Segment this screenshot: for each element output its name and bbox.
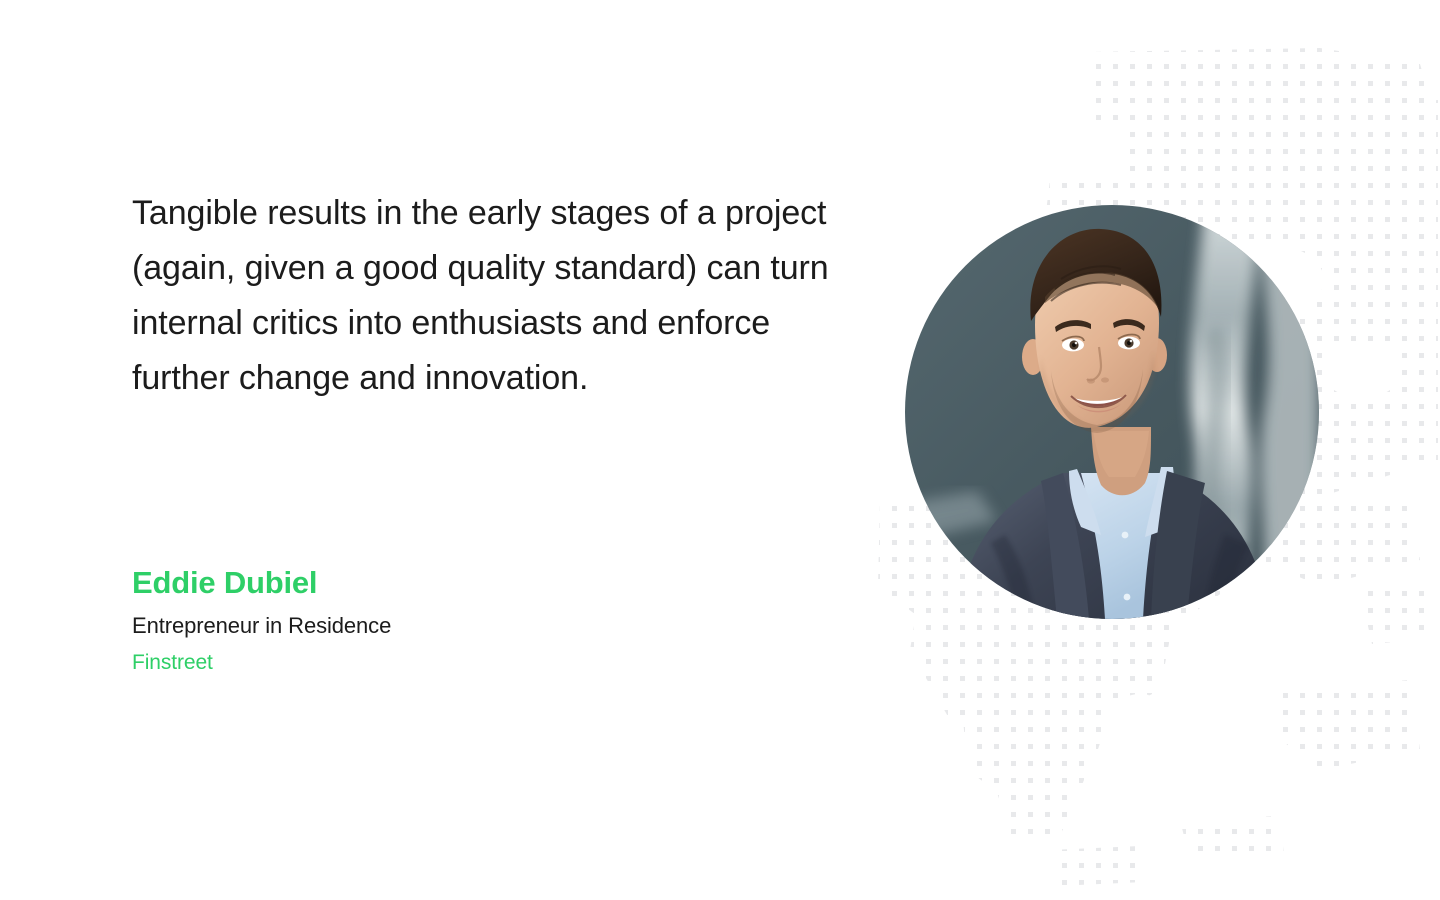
author-company: Finstreet — [132, 647, 391, 679]
attribution-block: Eddie Dubiel Entrepreneur in Residence F… — [132, 563, 391, 679]
author-name: Eddie Dubiel — [132, 563, 391, 603]
testimonial-slide: Tangible results in the early stages of … — [0, 0, 1440, 900]
author-role: Entrepreneur in Residence — [132, 609, 391, 643]
quote-block: Tangible results in the early stages of … — [132, 186, 872, 406]
quote-text: Tangible results in the early stages of … — [132, 186, 872, 406]
portrait-avatar: Headshot of Eddie Dubiel smiling, wearin… — [905, 205, 1319, 619]
